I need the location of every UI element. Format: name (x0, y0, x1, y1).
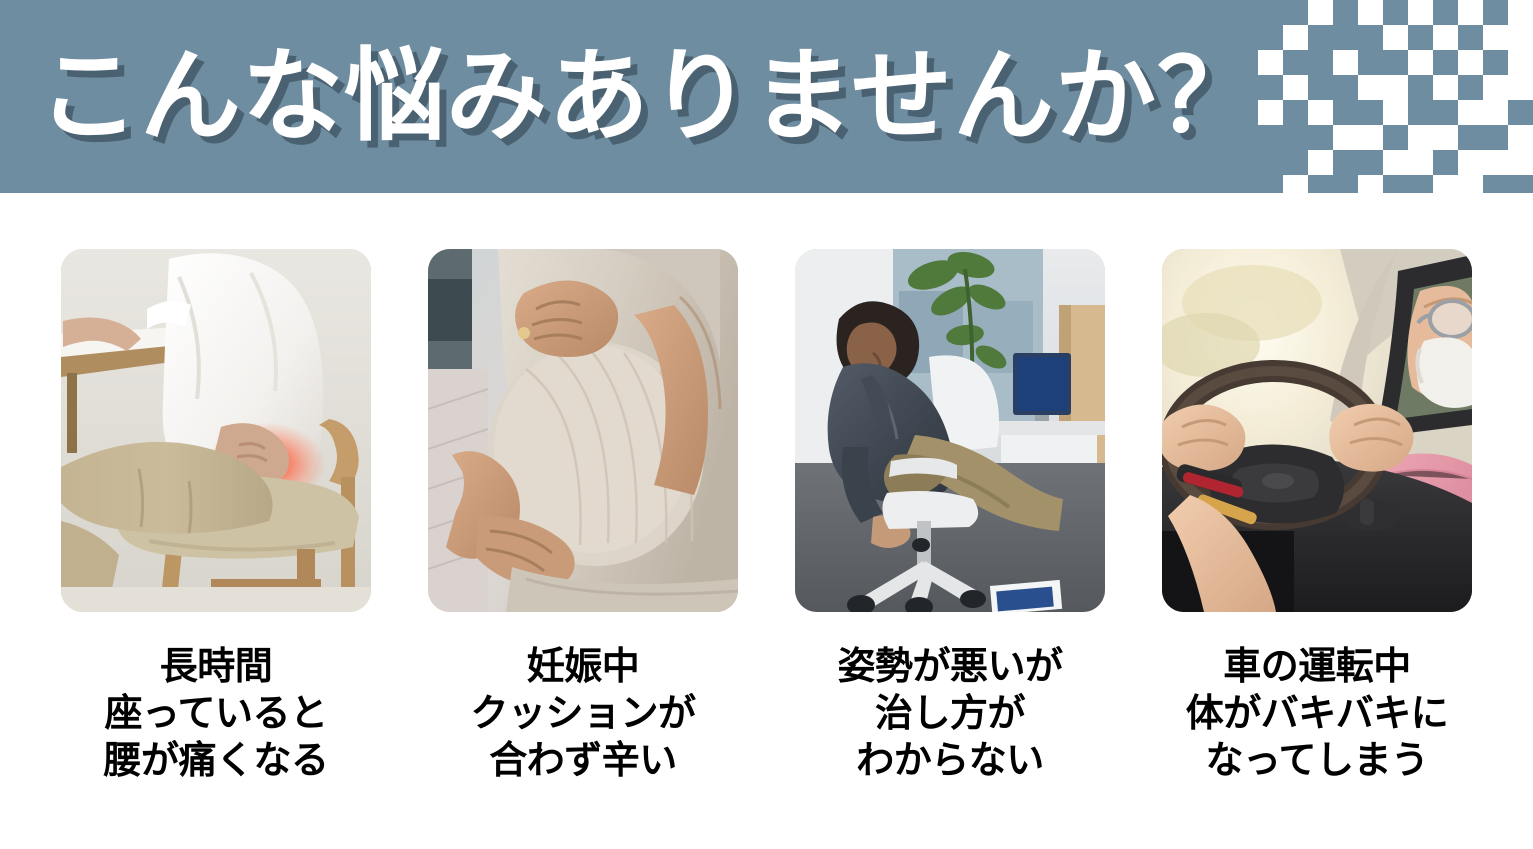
mosaic-cell (1408, 150, 1433, 175)
mosaic-cell (1458, 50, 1483, 75)
page-title: こんな悩みありませんか？ (38, 40, 1259, 153)
photo-woman-driving-car-steering-wheel (1162, 249, 1472, 612)
mosaic-cell (1483, 100, 1508, 125)
mosaic-cell (1483, 25, 1508, 50)
mosaic-cell (1308, 100, 1333, 125)
mosaic-cell (1258, 50, 1283, 75)
card-caption: 妊娠中 クッションが 合わず辛い (470, 643, 695, 784)
mosaic-cell (1383, 25, 1408, 50)
card-caption: 長時間 座っていると 腰が痛くなる (103, 643, 328, 784)
mosaic-cell (1333, 125, 1358, 150)
mosaic-cell (1483, 150, 1508, 175)
mosaic-cell (1433, 75, 1458, 100)
mosaic-cell (1383, 100, 1408, 125)
mosaic-cell (1258, 100, 1283, 125)
mosaic-cell (1458, 100, 1483, 125)
mosaic-cell (1308, 150, 1333, 175)
photo-office-worker-slouching-chair (795, 249, 1105, 612)
header-banner: こんな悩みありませんか？ (0, 0, 1533, 193)
mosaic-cell (1508, 0, 1533, 25)
mosaic-cell (1383, 75, 1408, 100)
problem-cards-row: 長時間 座っていると 腰が痛くなる (0, 249, 1533, 784)
mosaic-cell (1458, 175, 1483, 193)
pixel-mosaic-decoration (1258, 0, 1533, 193)
mosaic-cell (1433, 175, 1458, 193)
card-caption: 車の運転中 体がバキバキに なってしまう (1186, 643, 1449, 784)
mosaic-cell (1383, 150, 1408, 175)
problem-card-desk-back-pain: 長時間 座っていると 腰が痛くなる (61, 249, 371, 784)
mosaic-cell (1508, 125, 1533, 150)
mosaic-cell (1358, 125, 1383, 150)
mosaic-cell (1483, 75, 1508, 100)
mosaic-cell (1283, 175, 1308, 193)
problem-card-driving: 車の運転中 体がバキバキに なってしまう (1162, 249, 1472, 784)
mosaic-cell (1508, 75, 1533, 100)
mosaic-cell (1308, 0, 1333, 25)
mosaic-cell (1508, 50, 1533, 75)
mosaic-cell (1283, 75, 1308, 100)
mosaic-cell (1358, 175, 1383, 193)
photo-person-sitting-desk-back-pain (61, 249, 371, 612)
mosaic-cell (1358, 75, 1383, 100)
mosaic-cell (1408, 125, 1433, 150)
mosaic-cell (1433, 125, 1458, 150)
card-caption: 姿勢が悪いが 治し方が わからない (837, 643, 1062, 784)
mosaic-cell (1333, 50, 1358, 75)
photo-pregnant-woman-holding-belly (428, 249, 738, 612)
mosaic-cell (1458, 150, 1483, 175)
mosaic-cell (1358, 0, 1383, 25)
problem-card-bad-posture: 姿勢が悪いが 治し方が わからない (795, 249, 1105, 784)
mosaic-cell (1508, 150, 1533, 175)
mosaic-cell (1433, 25, 1458, 50)
mosaic-cell (1408, 50, 1433, 75)
mosaic-cell (1458, 0, 1483, 25)
mosaic-cell (1283, 25, 1308, 50)
mosaic-cell (1508, 25, 1533, 50)
problem-card-pregnancy: 妊娠中 クッションが 合わず辛い (428, 249, 738, 784)
mosaic-cell (1408, 0, 1433, 25)
